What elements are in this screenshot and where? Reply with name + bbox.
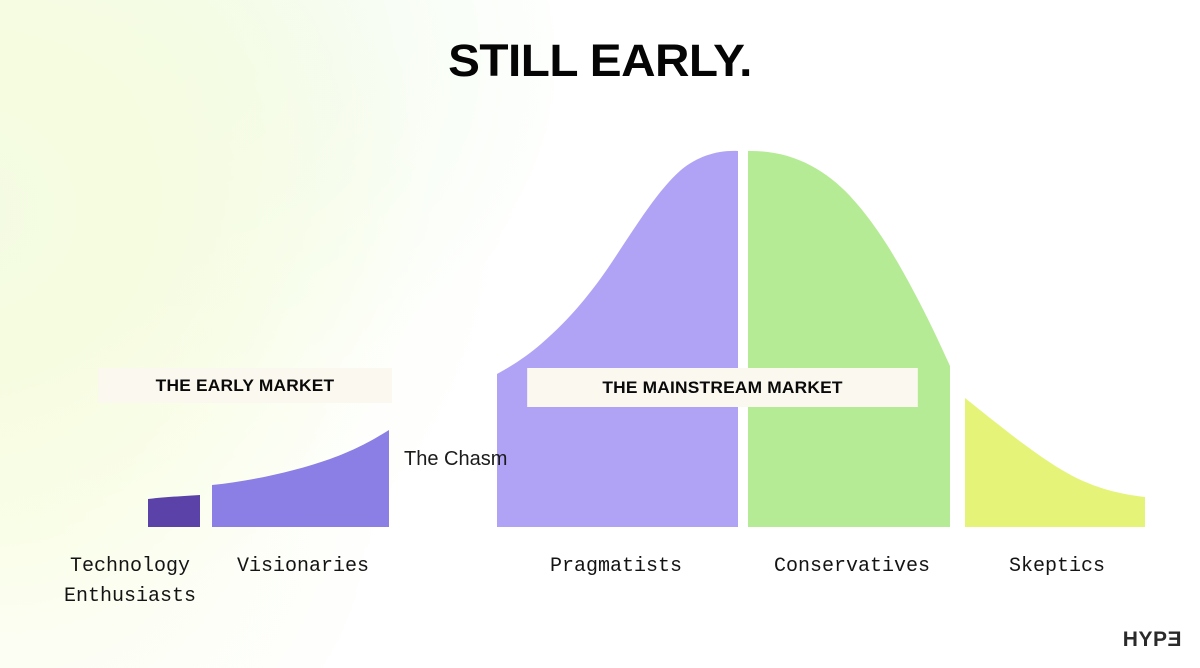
brand-logo-lead: HYP <box>1123 628 1168 652</box>
category-label-line-1: Conservatives <box>774 555 930 578</box>
brand-logo-hype: HYPE <box>1123 628 1182 652</box>
category-label-conservatives: Conservatives <box>754 552 950 582</box>
segment-conservatives <box>748 151 950 527</box>
category-label-line-2: Enthusiasts <box>32 582 228 612</box>
band-label-early-market: THE EARLY MARKET <box>98 368 392 403</box>
category-label-line-1: Pragmatists <box>550 555 682 578</box>
category-label-skeptics: Skeptics <box>959 552 1155 582</box>
segment-technology-enthusiasts <box>148 495 200 527</box>
category-label-visionaries: Visionaries <box>205 552 401 582</box>
brand-logo-reversed-e: E <box>1167 628 1182 652</box>
band-label-mainstream-market-text: THE MAINSTREAM MARKET <box>602 378 842 398</box>
segment-visionaries <box>212 430 389 527</box>
segment-pragmatists <box>497 151 738 527</box>
page-title: STILL EARLY. <box>0 35 1200 87</box>
chasm-line-1: The <box>404 448 438 470</box>
category-label-line-1: Visionaries <box>237 555 369 578</box>
poster-canvas: STILL EARLY. THE EARLY MARKET THE MAINST… <box>0 0 1200 668</box>
category-label-line-1: Skeptics <box>1009 555 1105 578</box>
band-label-early-market-text: THE EARLY MARKET <box>156 376 335 396</box>
chasm-annotation: The Chasm <box>404 444 488 475</box>
category-label-line-1: Technology <box>70 555 190 578</box>
chasm-line-2: Chasm <box>444 448 507 470</box>
category-label-pragmatists: Pragmatists <box>518 552 714 582</box>
segment-skeptics <box>965 398 1145 527</box>
band-label-mainstream-market: THE MAINSTREAM MARKET <box>527 368 918 407</box>
category-label-technology-enthusiasts: Technology Enthusiasts <box>32 552 228 612</box>
